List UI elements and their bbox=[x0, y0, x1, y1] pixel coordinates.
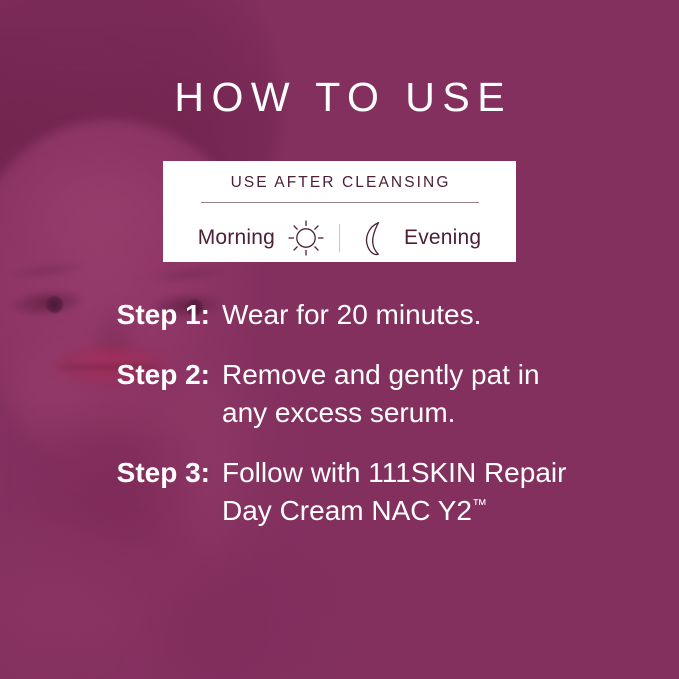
step-text-line: any excess serum. bbox=[222, 394, 540, 432]
step-item: Step 2: Remove and gently pat in any exc… bbox=[0, 356, 679, 432]
step-item: Step 1: Wear for 20 minutes. bbox=[0, 296, 679, 334]
trademark-symbol: ™ bbox=[472, 497, 487, 514]
sun-icon bbox=[283, 217, 329, 259]
step-text-line: Wear for 20 minutes. bbox=[222, 296, 481, 334]
step-text-line: Remove and gently pat in bbox=[222, 356, 540, 394]
step-text-line-product: Day Cream NAC Y2™ bbox=[222, 492, 566, 530]
step-item: Step 3: Follow with 111SKIN Repair Day C… bbox=[0, 454, 679, 530]
period-divider bbox=[339, 224, 340, 252]
usage-card-divider bbox=[201, 202, 479, 203]
step-label: Step 1: bbox=[0, 296, 210, 334]
step-label: Step 3: bbox=[0, 454, 210, 492]
step-label: Step 2: bbox=[0, 356, 210, 394]
how-to-use-panel: HOW TO USE USE AFTER CLEANSING Morning bbox=[0, 0, 679, 679]
steps-list: Step 1: Wear for 20 minutes. Step 2: Rem… bbox=[0, 296, 679, 552]
page-title: HOW TO USE bbox=[0, 74, 679, 121]
morning-label: Morning bbox=[198, 226, 275, 250]
step-text-line: Follow with 111SKIN Repair bbox=[222, 454, 566, 492]
usage-card-periods: Morning bbox=[163, 215, 516, 261]
usage-card: USE AFTER CLEANSING Morning bbox=[163, 161, 516, 262]
evening-label: Evening bbox=[404, 226, 481, 250]
step-text: Remove and gently pat in any excess seru… bbox=[222, 356, 540, 432]
step-text: Wear for 20 minutes. bbox=[222, 296, 481, 334]
step-text: Follow with 111SKIN Repair Day Cream NAC… bbox=[222, 454, 566, 530]
product-name: Day Cream NAC Y2 bbox=[222, 495, 472, 526]
usage-card-heading: USE AFTER CLEANSING bbox=[163, 174, 516, 192]
moon-icon bbox=[350, 217, 396, 259]
